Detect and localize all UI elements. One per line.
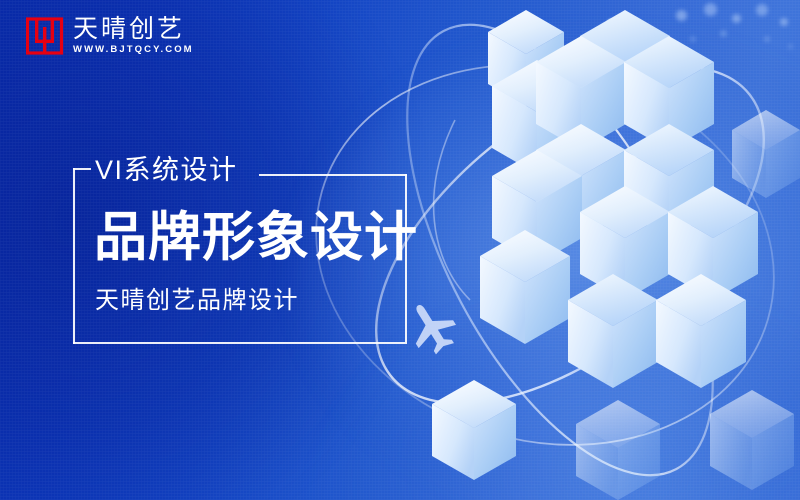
- floating-cube-bottom-left: [432, 380, 516, 480]
- cube-cluster-artwork: [380, 0, 800, 500]
- tqcy-logo-mark-icon: [26, 17, 64, 55]
- logo-company-name: 天晴创艺: [73, 16, 194, 42]
- floating-cube-bottom-right: [576, 400, 660, 500]
- frame-top-long-line: [259, 174, 407, 176]
- eyebrow-text: VI系统设计: [95, 155, 238, 185]
- airplane-silhouette-icon: [404, 296, 466, 362]
- frame-left-line: [73, 168, 75, 344]
- subtitle-text: 天晴创艺品牌设计: [95, 287, 299, 315]
- cube-block-l: [656, 274, 746, 388]
- frame-bottom-line: [73, 342, 407, 344]
- floating-cube-edge-right: [710, 390, 794, 490]
- logo-website-url: WWW.BJTQCY.COM: [73, 44, 194, 55]
- page-title: 品牌形象设计: [94, 208, 418, 268]
- cube-block-k: [568, 274, 658, 388]
- headline-block: VI系统设计 品牌形象设计 天晴创艺品牌设计: [73, 168, 407, 344]
- frame-top-stub-line: [73, 168, 91, 170]
- floating-cube-right: [732, 110, 800, 198]
- brand-logo[interactable]: 天晴创艺 WWW.BJTQCY.COM: [26, 16, 194, 55]
- brand-design-banner: 天晴创艺 WWW.BJTQCY.COM VI系统设计 品牌形象设计 天晴创艺品牌…: [0, 0, 800, 500]
- logo-text-group: 天晴创艺 WWW.BJTQCY.COM: [73, 16, 194, 55]
